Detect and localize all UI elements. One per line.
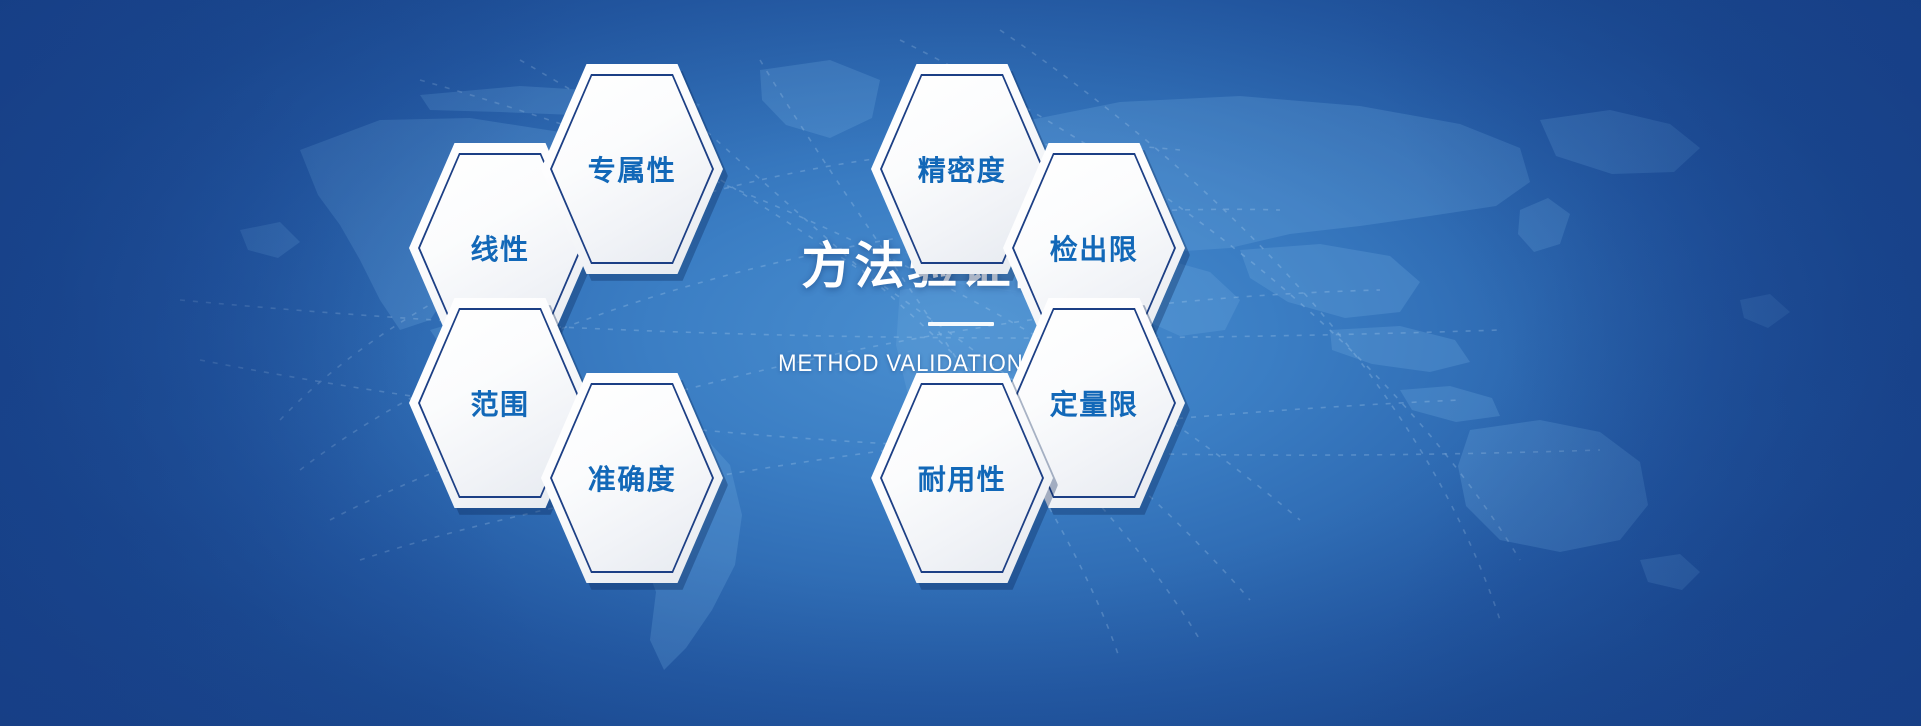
hexagon-specificity[interactable]: 专属性 bbox=[541, 64, 723, 274]
hexagon-label: 耐用性 bbox=[871, 373, 1053, 583]
hexagon-robustness[interactable]: 耐用性 bbox=[871, 373, 1053, 583]
hexagon-accuracy[interactable]: 准确度 bbox=[541, 373, 723, 583]
hexagon-label: 专属性 bbox=[541, 64, 723, 274]
banner-stage: 方法验证内容 METHOD VALIDATION CONTENT 线性专属性范围… bbox=[0, 0, 1921, 726]
hexagon-label: 准确度 bbox=[541, 373, 723, 583]
title-divider bbox=[928, 322, 994, 326]
